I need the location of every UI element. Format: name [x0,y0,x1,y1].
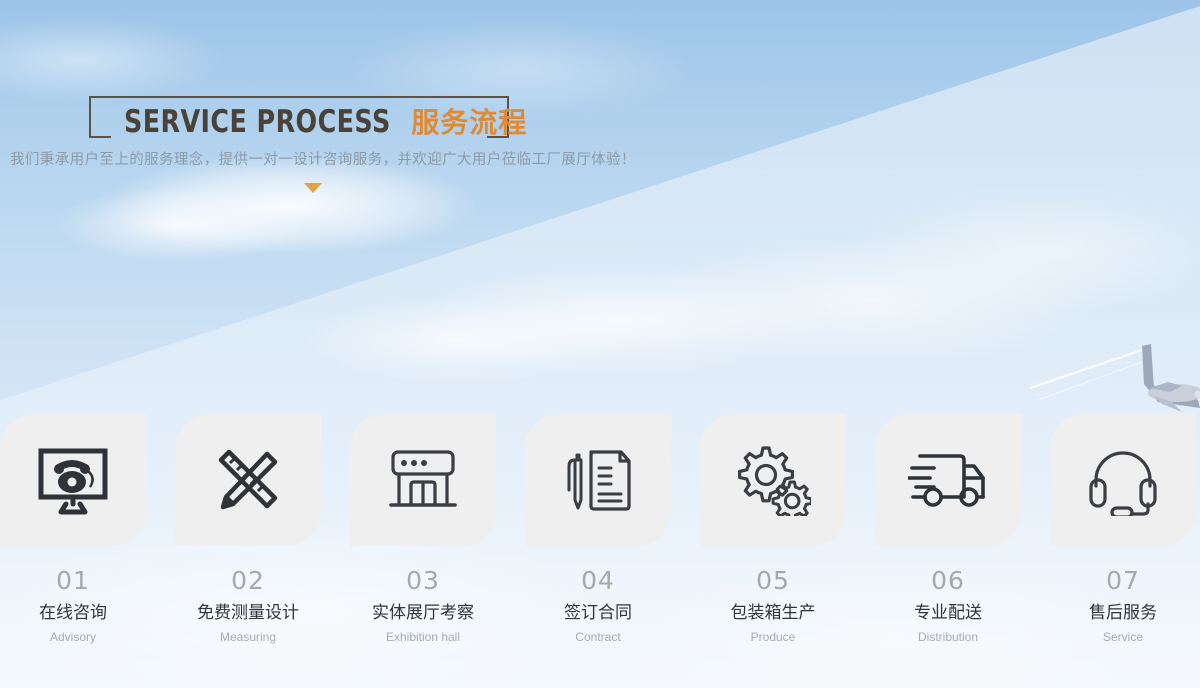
step-icon-card[interactable] [350,414,496,546]
step-number: 02 [231,568,265,593]
step-label-en: Advisory [50,631,96,643]
process-step[interactable]: 06 专业配送 Distribution [875,414,1021,643]
chevron-down-icon [304,183,322,193]
banner-subtitle: 我们秉承用户至上的服务理念，提供一对一设计咨询服务，并欢迎广大用户莅临工厂展厅体… [10,148,636,169]
step-label-cn: 在线咨询 [39,604,107,621]
step-label-cn: 专业配送 [914,604,982,621]
step-label-en: Produce [751,631,796,643]
step-label-en: Service [1103,631,1143,643]
headset-icon [1086,444,1160,516]
step-label-en: Exhibition hall [386,631,460,643]
ruler-pencil-icon [211,444,285,516]
process-step[interactable]: 05 包装箱生产 Produce [700,414,846,643]
step-label-en: Contract [575,631,620,643]
step-icon-card[interactable] [700,414,846,546]
step-icon-card[interactable] [175,414,321,546]
step-label-cn: 实体展厅考察 [372,604,474,621]
process-step[interactable]: 04 签订合同 Contract [525,414,671,643]
page-title: SERVICE PROCESS 服务流程 [124,101,527,141]
step-number: 05 [756,568,790,593]
step-icon-card[interactable] [1050,414,1196,546]
process-step[interactable]: 01 在线咨询 Advisory [0,414,146,643]
step-icon-card[interactable] [875,414,1021,546]
step-icon-card[interactable] [525,414,671,546]
storefront-icon [386,444,460,516]
pen-document-icon [561,444,635,516]
monitor-phone-icon [36,444,110,516]
step-number: 07 [1106,568,1140,593]
step-icon-card[interactable] [0,414,146,546]
service-process-banner: SERVICE PROCESS 服务流程 我们秉承用户至上的服务理念，提供一对一… [0,0,1200,688]
step-label-cn: 签订合同 [564,604,632,621]
step-number: 01 [56,568,90,593]
step-label-cn: 免费测量设计 [197,604,299,621]
step-number: 03 [406,568,440,593]
process-step[interactable]: 02 免费测量设计 Measuring [175,414,321,643]
step-number: 04 [581,568,615,593]
bracket-foot-left [89,136,111,138]
gears-icon [735,444,811,516]
step-label-en: Measuring [220,631,276,643]
process-step[interactable]: 03 实体展厅考察 Exhibition hall [350,414,496,643]
step-label-cn: 包装箱生产 [731,604,816,621]
process-step-list: 01 在线咨询 Advisory [0,414,1200,643]
step-label-cn: 售后服务 [1089,604,1157,621]
step-label-en: Distribution [918,631,978,643]
title-chinese: 服务流程 [411,101,527,141]
delivery-truck-icon [908,447,988,513]
title-english: SERVICE PROCESS [124,104,391,140]
process-step[interactable]: 07 售后服务 Service [1050,414,1196,643]
step-number: 06 [931,568,965,593]
